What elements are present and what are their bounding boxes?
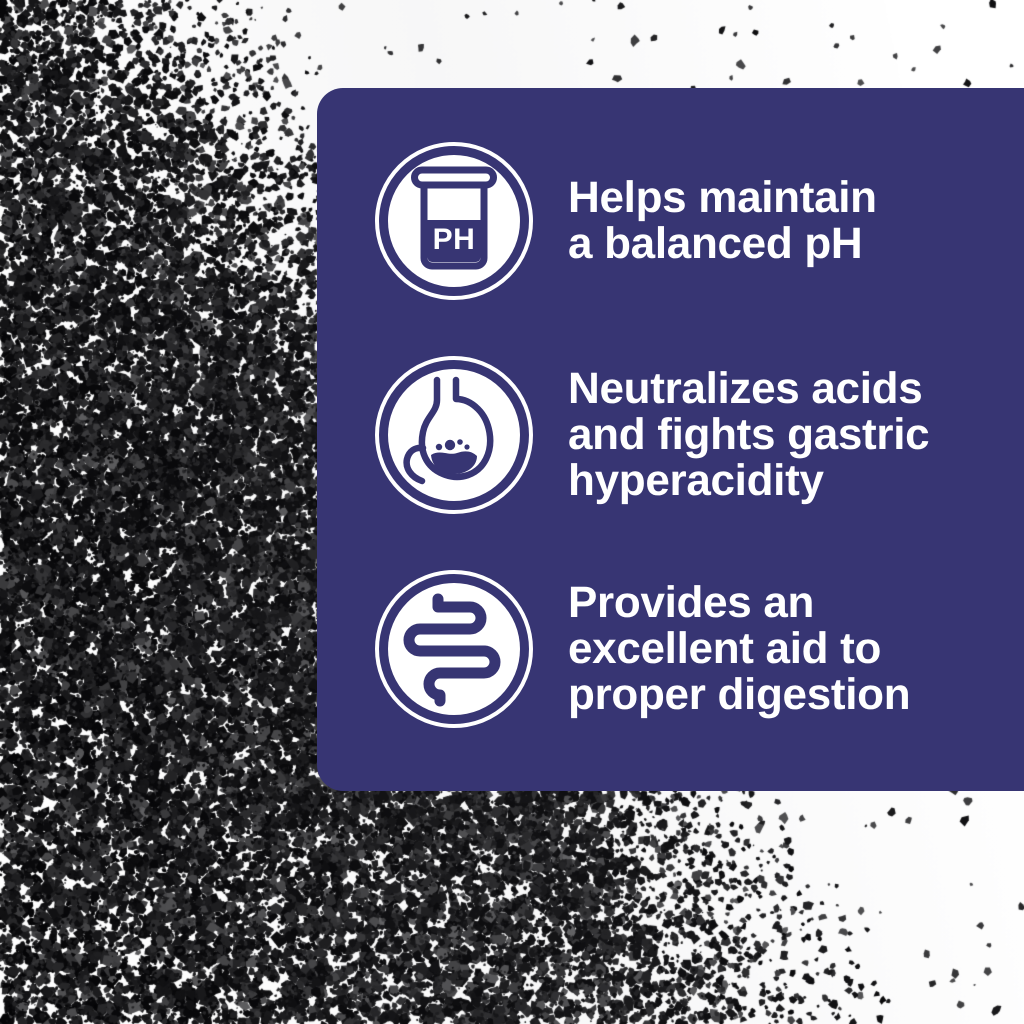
benefits-panel: PH Helps maintain a balanced pH bbox=[317, 88, 1024, 791]
acid-bubble-small-left bbox=[436, 444, 442, 450]
acid-bubble-small-right bbox=[464, 444, 469, 449]
infographic-canvas: PH Helps maintain a balanced pH bbox=[0, 0, 1024, 1024]
benefit-item-digestion: Provides an excellent aid to proper dige… bbox=[374, 569, 994, 729]
benefit-text-stomach: Neutralizes acids and fights gastric hyp… bbox=[568, 366, 929, 503]
benefit-text-digestion: Provides an excellent aid to proper dige… bbox=[568, 580, 910, 717]
intestine-icon bbox=[374, 569, 534, 729]
benefit-item-stomach: Neutralizes acids and fights gastric hyp… bbox=[374, 355, 994, 515]
benefit-list: PH Helps maintain a balanced pH bbox=[374, 141, 994, 729]
benefit-text-ph: Helps maintain a balanced pH bbox=[568, 175, 877, 267]
stomach-acid-icon bbox=[374, 355, 534, 515]
acid-bubble-small-top bbox=[457, 439, 463, 445]
acid-bubble-large bbox=[445, 440, 455, 450]
benefit-item-ph: PH Helps maintain a balanced pH bbox=[374, 141, 994, 301]
ph-beaker-icon: PH bbox=[374, 141, 534, 301]
ph-icon-label: PH bbox=[433, 223, 476, 256]
